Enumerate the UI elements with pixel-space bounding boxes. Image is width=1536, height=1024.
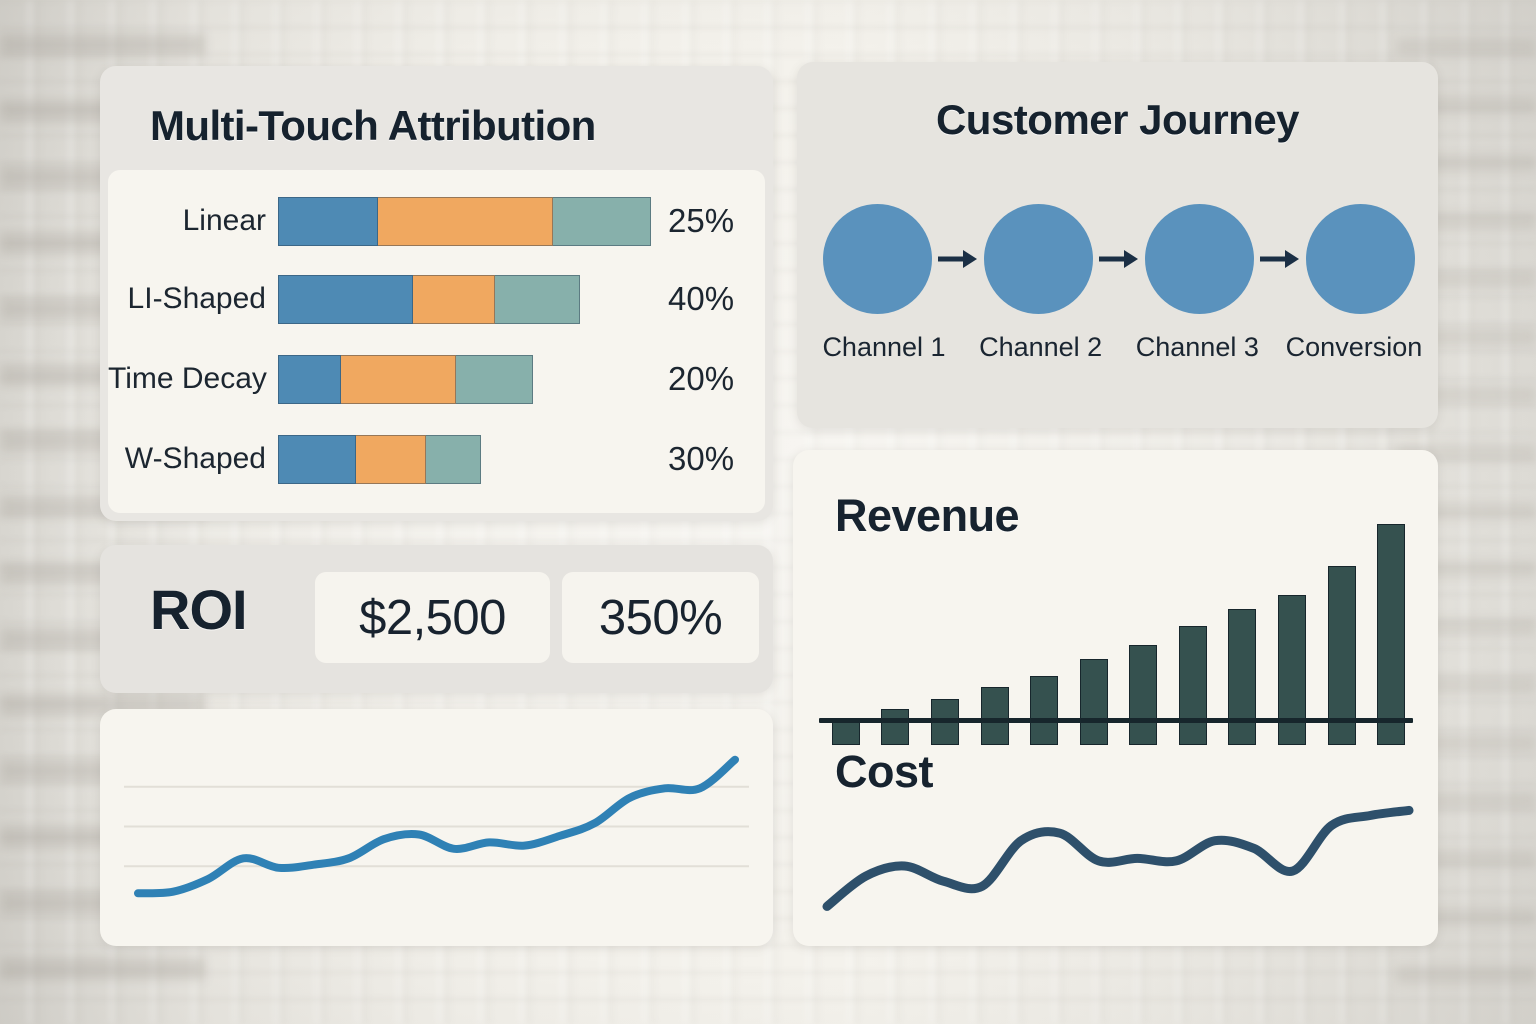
- attribution-row-percent: 40%: [668, 280, 734, 318]
- journey-node-label: Channel 1: [809, 332, 959, 363]
- cost-line-chart: [813, 780, 1423, 930]
- journey-flow: [823, 194, 1415, 324]
- dashboard-canvas: Multi-Touch Attribution Linear25%LI-Shap…: [0, 0, 1536, 1024]
- revenue-axis-line: [819, 718, 1413, 723]
- attribution-row-label: LI-Shaped: [108, 282, 278, 316]
- attribution-row[interactable]: W-Shaped30%: [108, 430, 765, 488]
- journey-node-circle[interactable]: [1145, 204, 1254, 314]
- revenue-bar[interactable]: [1228, 609, 1256, 745]
- revenue-bar[interactable]: [881, 709, 909, 745]
- cost-line-path: [827, 810, 1409, 906]
- journey-title: Customer Journey: [797, 96, 1438, 144]
- journey-node-circle[interactable]: [984, 204, 1093, 314]
- attribution-row[interactable]: LI-Shaped40%: [108, 270, 765, 328]
- attribution-chart: Linear25%LI-Shaped40%Time Decay20%W-Shap…: [108, 170, 765, 513]
- attribution-bar-segment: [413, 275, 495, 324]
- attribution-row-label: Linear: [108, 204, 278, 238]
- attribution-row[interactable]: Linear25%: [108, 192, 765, 250]
- journey-labels: Channel 1Channel 2Channel 3Conversion: [809, 332, 1429, 363]
- roi-label: ROI: [150, 577, 247, 642]
- arrow-right-icon: [1097, 245, 1141, 273]
- attribution-stacked-bar: [278, 197, 651, 246]
- journey-node-label: Conversion: [1279, 332, 1429, 363]
- attribution-row[interactable]: Time Decay20%: [108, 350, 765, 408]
- attribution-bar-segment: [341, 355, 456, 404]
- attribution-row-percent: 20%: [668, 360, 734, 398]
- roi-panel: ROI $2,500 350%: [100, 545, 773, 693]
- attribution-title: Multi-Touch Attribution: [150, 102, 596, 150]
- attribution-bar-segment: [278, 355, 341, 404]
- attribution-bar-segment: [356, 435, 426, 484]
- attribution-bar-segment: [426, 435, 481, 484]
- trend-line-panel: [100, 709, 773, 946]
- attribution-stacked-bar: [278, 275, 580, 324]
- attribution-row-percent: 25%: [668, 202, 734, 240]
- roi-percent-card[interactable]: 350%: [562, 572, 759, 663]
- revenue-bar[interactable]: [1129, 645, 1157, 745]
- journey-node-circle[interactable]: [823, 204, 932, 314]
- revenue-bar-chart: [821, 505, 1416, 745]
- attribution-stacked-bar: [278, 435, 481, 484]
- arrow-right-icon: [936, 245, 980, 273]
- attribution-bar-segment: [495, 275, 580, 324]
- revenue-bar[interactable]: [832, 720, 860, 745]
- attribution-panel: Multi-Touch Attribution Linear25%LI-Shap…: [100, 66, 773, 521]
- revenue-bar[interactable]: [1080, 659, 1108, 745]
- attribution-bar-segment: [278, 435, 356, 484]
- attribution-bar-segment: [278, 197, 378, 246]
- customer-journey-panel: Customer Journey Channel 1Channel 2Chann…: [797, 62, 1438, 428]
- attribution-row-percent: 30%: [668, 440, 734, 478]
- attribution-bar-segment: [278, 275, 413, 324]
- attribution-bar-segment: [553, 197, 651, 246]
- journey-node-label: Channel 3: [1122, 332, 1272, 363]
- attribution-stacked-bar: [278, 355, 533, 404]
- arrow-right-icon: [1258, 245, 1302, 273]
- attribution-bar-segment: [456, 355, 533, 404]
- journey-node-label: Channel 2: [966, 332, 1116, 363]
- revenue-bar[interactable]: [1179, 626, 1207, 745]
- roi-value-card[interactable]: $2,500: [315, 572, 550, 663]
- revenue-bar[interactable]: [981, 687, 1009, 745]
- attribution-bar-segment: [378, 197, 553, 246]
- revenue-bar[interactable]: [1030, 676, 1058, 745]
- attribution-row-label: W-Shaped: [108, 442, 278, 476]
- attribution-row-label: Time Decay: [108, 362, 278, 396]
- trend-line-chart: [100, 709, 773, 946]
- revenue-bar[interactable]: [1377, 524, 1405, 745]
- journey-node-circle[interactable]: [1306, 204, 1415, 314]
- revenue-cost-panel: Revenue Cost: [793, 450, 1438, 946]
